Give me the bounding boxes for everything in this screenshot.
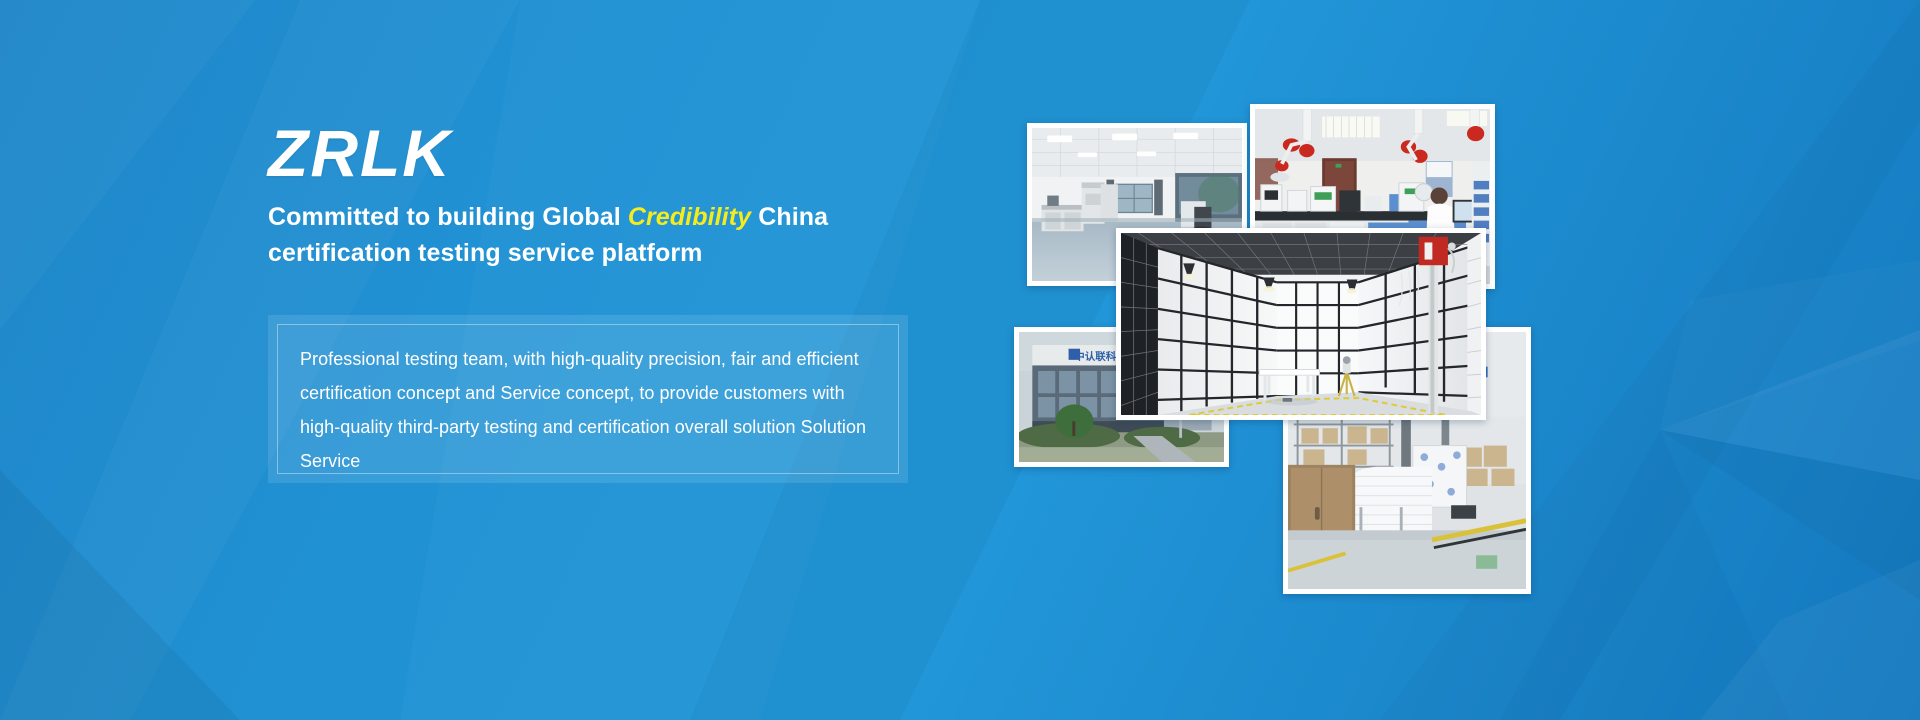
svg-text:中认联科: 中认联科 <box>1074 350 1117 363</box>
photo-emc-anechoic-chamber <box>1116 228 1486 420</box>
hero-copy: ZRLK Committed to building Global Credib… <box>268 120 968 271</box>
description-text: Professional testing team, with high-qua… <box>300 342 876 478</box>
description-panel: Professional testing team, with high-qua… <box>268 315 908 483</box>
photo-collage: 中认联科 <box>1000 95 1680 615</box>
headline-accent-word: Credibility <box>628 203 751 231</box>
headline-part-1: Committed to building Global <box>268 203 628 231</box>
banner-hero: ZRLK Committed to building Global Credib… <box>0 0 1920 720</box>
photo-emc-anechoic-chamber-image <box>1121 233 1481 415</box>
headline: Committed to building Global Credibility… <box>268 200 968 271</box>
brand-logotype: ZRLK <box>268 120 968 186</box>
description-panel-inner-border: Professional testing team, with high-qua… <box>277 324 899 474</box>
